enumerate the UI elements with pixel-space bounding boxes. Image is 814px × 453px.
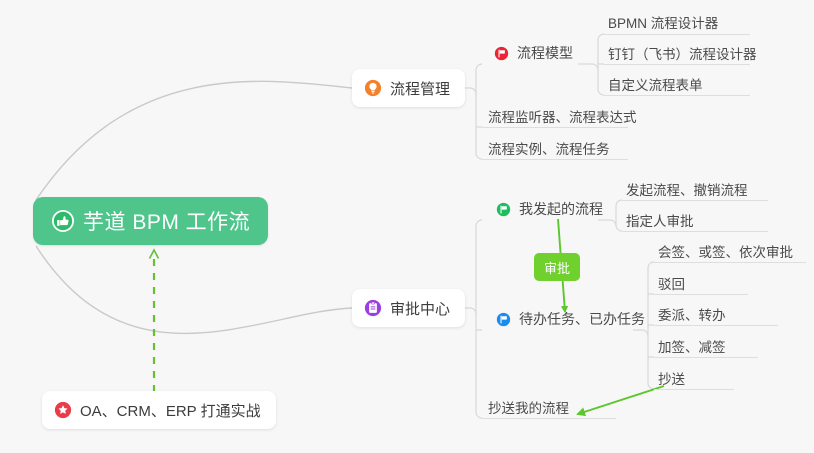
- node-process-model[interactable]: 流程模型: [492, 40, 575, 66]
- branch-approval-center-label: 审批中心: [390, 298, 450, 319]
- node-todo-done[interactable]: 待办任务、已办任务: [494, 306, 647, 332]
- leaf-process-instance[interactable]: 流程实例、流程任务: [486, 135, 612, 161]
- leaf-delegate-transfer-label: 委派、转办: [658, 304, 726, 324]
- root-node[interactable]: 芋道 BPM 工作流: [33, 197, 268, 245]
- node-process-model-label: 流程模型: [517, 43, 573, 63]
- leaf-custom-form[interactable]: 自定义流程表单: [606, 71, 705, 97]
- leaf-add-remove-sign[interactable]: 加签、减签: [656, 333, 728, 359]
- leaf-initiate-cancel[interactable]: 发起流程、撤销流程: [624, 176, 750, 202]
- branch-process-management-label: 流程管理: [390, 78, 450, 99]
- leaf-delegate-transfer[interactable]: 委派、转办: [656, 301, 728, 327]
- flag-green-icon: [496, 202, 511, 217]
- leaf-initiate-cancel-label: 发起流程、撤销流程: [626, 179, 748, 199]
- leaf-cc-my-flow[interactable]: 抄送我的流程: [486, 394, 571, 420]
- root-label: 芋道 BPM 工作流: [83, 206, 250, 236]
- star-icon: [54, 401, 72, 419]
- leaf-bpmn-designer-label: BPMN 流程设计器: [608, 12, 718, 32]
- flag-red-icon: [494, 46, 509, 61]
- bracket-process-management-up: [476, 64, 482, 94]
- leaf-reject[interactable]: 驳回: [656, 270, 687, 296]
- leaf-reject-label: 驳回: [658, 273, 685, 293]
- leaf-cc[interactable]: 抄送: [656, 365, 687, 391]
- bracket-my-initiated-up: [616, 200, 622, 226]
- leaf-assignee-approval[interactable]: 指定人审批: [624, 207, 696, 233]
- branch-process-management[interactable]: 流程管理: [352, 69, 465, 107]
- leaf-cc-label: 抄送: [658, 368, 685, 388]
- leaf-countersign[interactable]: 会签、或签、依次审批: [656, 238, 795, 264]
- node-my-initiated[interactable]: 我发起的流程: [494, 196, 605, 222]
- bracket-process-model: [578, 64, 604, 95]
- leaf-add-remove-sign-label: 加签、减签: [658, 336, 726, 356]
- leaf-bpmn-designer[interactable]: BPMN 流程设计器: [606, 9, 720, 35]
- arrow-cc-to-cc-flow: [578, 386, 664, 414]
- note-node[interactable]: OA、CRM、ERP 打通实战: [42, 391, 276, 429]
- branch-approval-center[interactable]: 审批中心: [352, 289, 465, 327]
- leaf-countersign-label: 会签、或签、依次审批: [658, 241, 793, 261]
- approval-tag-label: 审批: [544, 258, 570, 277]
- edge-root-to-approval-center: [36, 246, 352, 333]
- bracket-todo-done: [633, 330, 654, 389]
- leaf-process-listener[interactable]: 流程监听器、流程表达式: [486, 103, 639, 129]
- leaf-assignee-approval-label: 指定人审批: [626, 210, 694, 230]
- leaf-process-listener-label: 流程监听器、流程表达式: [488, 106, 637, 126]
- flag-blue-icon: [496, 312, 511, 327]
- leaf-process-instance-label: 流程实例、流程任务: [488, 138, 610, 158]
- leaf-custom-form-label: 自定义流程表单: [608, 74, 703, 94]
- node-todo-done-label: 待办任务、已办任务: [519, 309, 645, 329]
- edge-root-to-process-management: [36, 81, 352, 200]
- leaf-dingtalk-designer-label: 钉钉（飞书）流程设计器: [608, 43, 757, 63]
- mindmap-canvas: 芋道 BPM 工作流 OA、CRM、ERP 打通实战 流程管理: [0, 0, 814, 453]
- note-label: OA、CRM、ERP 打通实战: [80, 400, 261, 421]
- node-my-initiated-label: 我发起的流程: [519, 199, 603, 219]
- thumbs-up-icon: [51, 209, 75, 233]
- leaf-dingtalk-designer[interactable]: 钉钉（飞书）流程设计器: [606, 40, 759, 66]
- clipboard-icon: [364, 299, 382, 317]
- bracket-approval-center-up: [476, 220, 482, 314]
- approval-tag[interactable]: 审批: [534, 253, 580, 281]
- leaf-cc-my-flow-label: 抄送我的流程: [488, 397, 569, 417]
- lightbulb-icon: [364, 79, 382, 97]
